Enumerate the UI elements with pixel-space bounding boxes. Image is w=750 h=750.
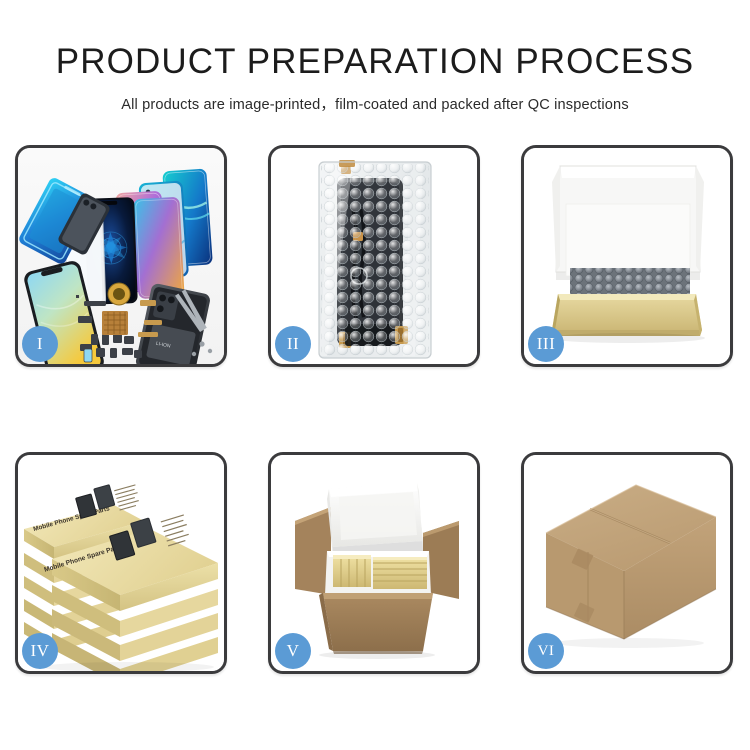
header: PRODUCT PREPARATION PROCESS All products… bbox=[0, 0, 750, 114]
step-badge-4: IV bbox=[22, 633, 58, 669]
step-badge-3: III bbox=[528, 326, 564, 362]
step-badge-1: I bbox=[22, 326, 58, 362]
process-step-2[interactable]: II bbox=[268, 145, 480, 367]
process-grid: LI-ION bbox=[15, 145, 735, 673]
process-step-6[interactable]: VI bbox=[521, 452, 733, 674]
step-badge-2: II bbox=[275, 326, 311, 362]
page-subtitle: All products are image-printed，film-coat… bbox=[0, 93, 750, 114]
process-step-4[interactable]: Mobile Phone Spare Parts bbox=[15, 452, 227, 674]
process-step-3[interactable]: III bbox=[521, 145, 733, 367]
process-step-1[interactable]: LI-ION bbox=[15, 145, 227, 367]
step-badge-6: VI bbox=[528, 633, 564, 669]
poster-root: PRODUCT PREPARATION PROCESS All products… bbox=[0, 0, 750, 750]
page-title: PRODUCT PREPARATION PROCESS bbox=[0, 44, 750, 81]
process-step-5[interactable]: V bbox=[268, 452, 480, 674]
step-badge-5: V bbox=[275, 633, 311, 669]
